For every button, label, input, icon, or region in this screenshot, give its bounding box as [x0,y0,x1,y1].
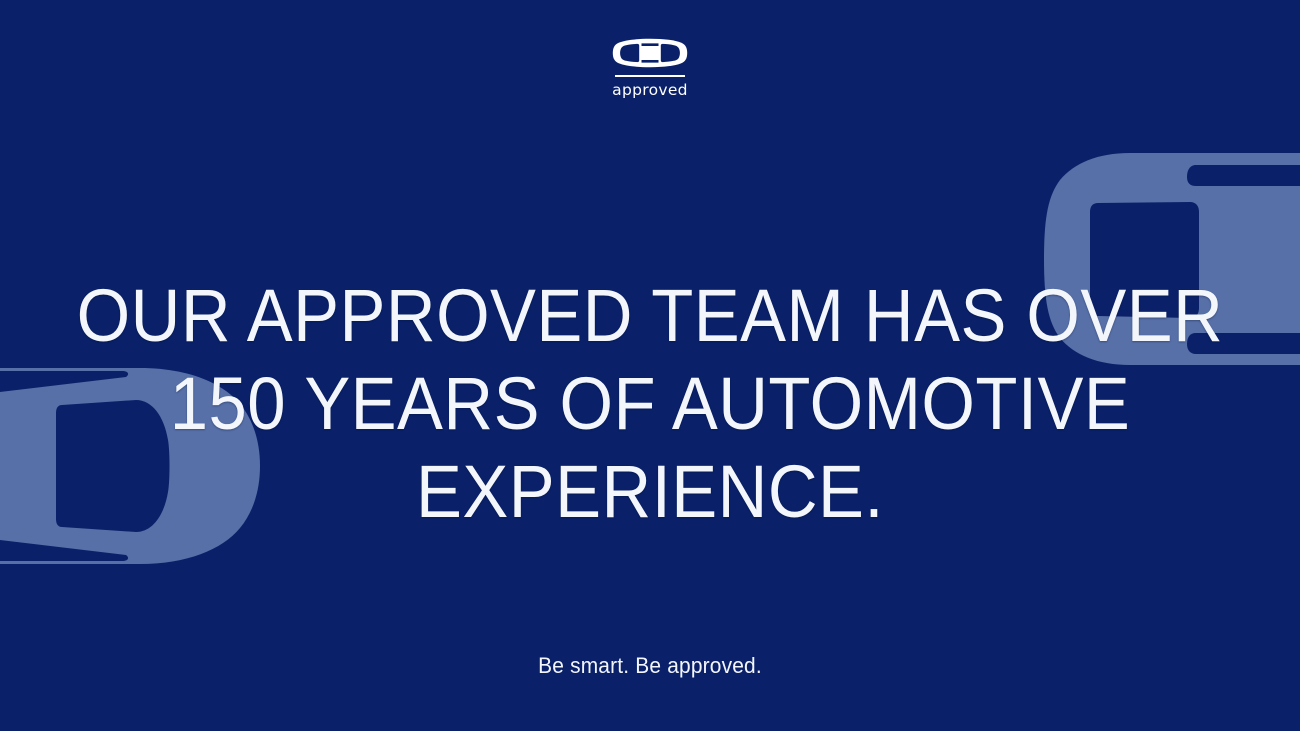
tagline: Be smart. Be approved. [33,652,1268,680]
car-top-view-icon [612,38,688,68]
headline-line-1: OUR APPROVED TEAM HAS OVER [46,272,1255,360]
headline: OUR APPROVED TEAM HAS OVER 150 YEARS OF … [46,272,1255,536]
headline-line-2: 150 YEARS OF AUTOMOTIVE [46,360,1255,448]
logo-divider [615,75,685,77]
brand-logo: approved [550,38,750,99]
slide-canvas: approved OUR APPROVED TEAM HAS OVER 150 … [0,0,1300,731]
headline-line-3: EXPERIENCE. [46,448,1255,536]
logo-wordmark: approved [612,82,688,99]
